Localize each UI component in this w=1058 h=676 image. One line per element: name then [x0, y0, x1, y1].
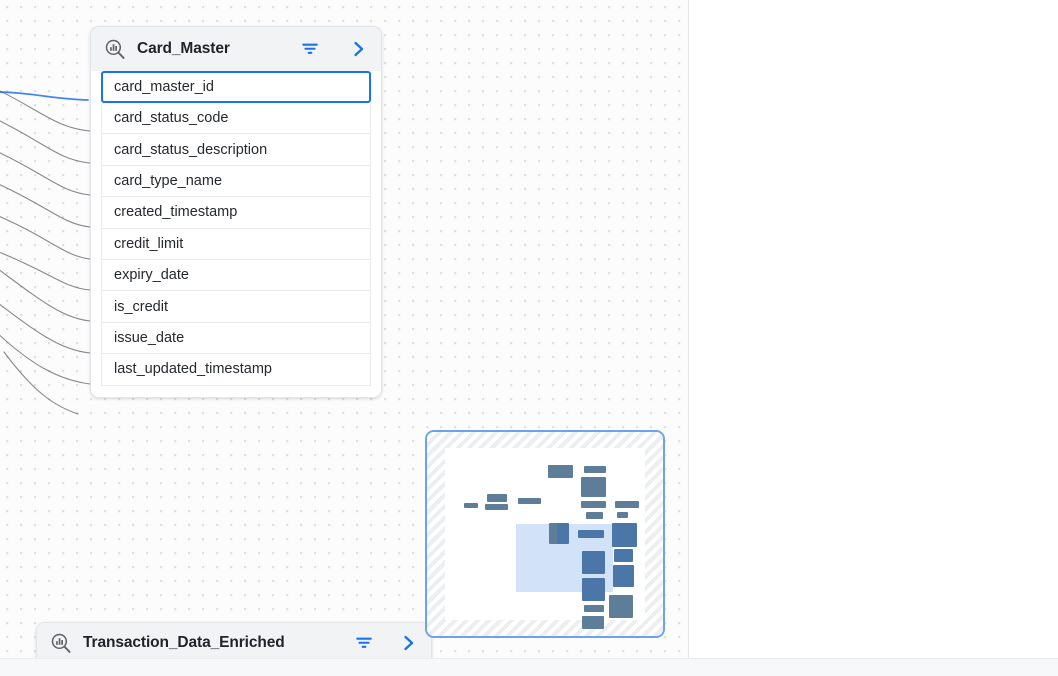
minimap-node: [557, 523, 569, 544]
minimap-node: [582, 551, 605, 574]
chevron-right-icon[interactable]: [400, 634, 418, 652]
minimap-node: [614, 549, 633, 562]
column-name: card_master_id: [114, 79, 214, 95]
minimap-node: [487, 494, 507, 502]
lineage-canvas[interactable]: Card_Master card_master_idcard_status_co…: [0, 0, 688, 658]
side-panel: Visualize Lineage: [689, 0, 1058, 658]
column-row[interactable]: card_status_description: [101, 134, 371, 165]
column-name: credit_limit: [114, 236, 183, 252]
node-title: Card_Master: [137, 40, 230, 58]
lineage-edge: [0, 118, 90, 163]
column-name: created_timestamp: [114, 204, 237, 220]
table-node-card-master[interactable]: Card_Master card_master_idcard_status_co…: [90, 26, 382, 398]
column-name: last_updated_timestamp: [114, 361, 272, 377]
minimap-node: [613, 565, 634, 587]
column-name: card_status_description: [114, 142, 267, 158]
column-row[interactable]: last_updated_timestamp: [101, 354, 371, 385]
lineage-minimap[interactable]: [425, 430, 665, 638]
lineage-edge: [0, 150, 90, 195]
column-row[interactable]: issue_date: [101, 323, 371, 354]
column-row[interactable]: created_timestamp: [101, 197, 371, 228]
minimap-node: [584, 466, 606, 473]
lineage-edge: [0, 182, 90, 227]
lineage-edge: [0, 214, 90, 259]
minimap-node: [612, 523, 637, 547]
column-row[interactable]: card_master_id: [101, 71, 371, 103]
column-name: card_type_name: [114, 173, 222, 189]
bottom-strip-top-border: [0, 658, 1058, 659]
chevron-right-icon[interactable]: [350, 40, 368, 58]
minimap-node: [582, 616, 604, 629]
node-title: Transaction_Data_Enriched: [83, 634, 285, 652]
minimap-node: [485, 504, 508, 510]
table-search-icon: [104, 38, 126, 60]
lineage-edge: [0, 250, 90, 290]
lineage-edge: [0, 92, 88, 100]
minimap-node: [518, 498, 541, 504]
minimap-inner-area: [445, 448, 645, 620]
minimap-node: [578, 530, 604, 538]
node-header: Card_Master: [91, 27, 381, 71]
minimap-node-layer: [445, 448, 645, 620]
column-row[interactable]: is_credit: [101, 291, 371, 322]
node-column-list: card_master_idcard_status_codecard_statu…: [91, 71, 381, 397]
minimap-node: [615, 501, 639, 508]
app-root: Card_Master card_master_idcard_status_co…: [0, 0, 1058, 676]
column-row[interactable]: card_status_code: [101, 103, 371, 134]
table-search-icon: [50, 632, 72, 654]
column-row[interactable]: card_type_name: [101, 166, 371, 197]
lineage-edge: [0, 330, 90, 384]
filter-icon[interactable]: [354, 633, 374, 653]
column-name: expiry_date: [114, 267, 189, 283]
lineage-edge: [0, 88, 90, 131]
column-name: issue_date: [114, 330, 184, 346]
lineage-edge: [4, 352, 78, 414]
column-name: is_credit: [114, 299, 168, 315]
column-row[interactable]: expiry_date: [101, 260, 371, 291]
minimap-node: [464, 503, 478, 508]
lineage-edge: [0, 300, 90, 353]
filter-icon[interactable]: [300, 39, 320, 59]
minimap-node: [609, 595, 633, 618]
table-node-transaction-data-enriched[interactable]: Transaction_Data_Enriched: [36, 622, 432, 658]
minimap-node: [586, 512, 603, 519]
node-header: Transaction_Data_Enriched: [37, 623, 431, 658]
column-row[interactable]: credit_limit: [101, 229, 371, 260]
minimap-node: [581, 501, 606, 508]
lineage-edge: [0, 266, 90, 321]
minimap-node: [581, 477, 606, 497]
minimap-node: [617, 512, 628, 518]
bottom-status-strip: [0, 658, 1058, 676]
minimap-node: [584, 605, 604, 612]
minimap-node: [582, 578, 605, 601]
column-name: card_status_code: [114, 110, 228, 126]
minimap-node: [548, 465, 573, 478]
